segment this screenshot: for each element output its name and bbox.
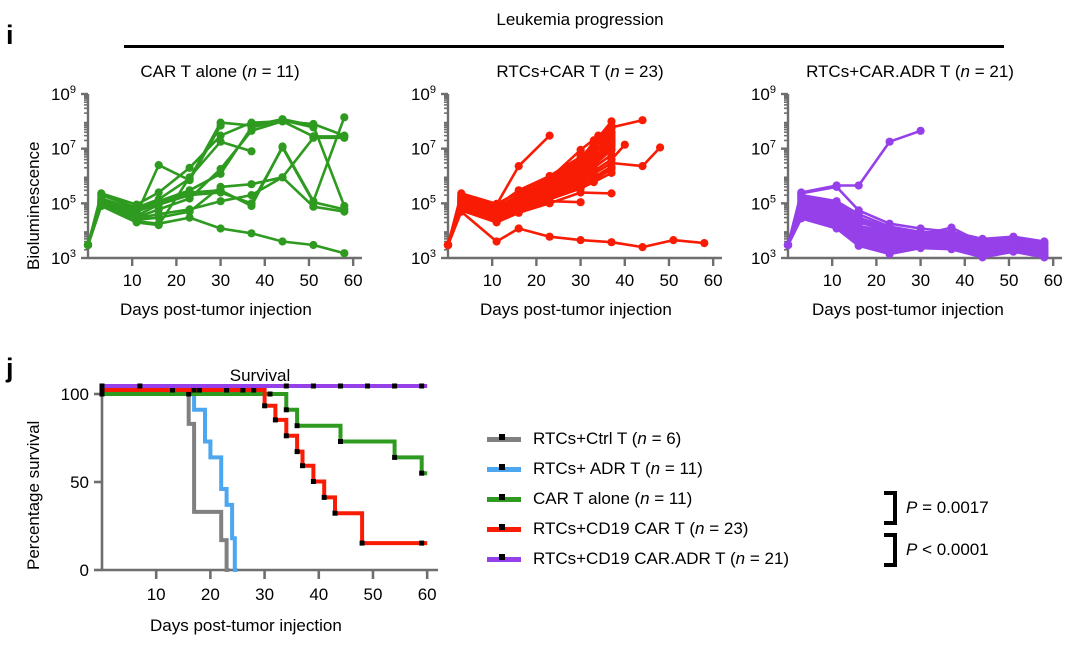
legend-item-label: RTCs+ ADR T (n = 11) — [533, 459, 703, 479]
svg-text:30: 30 — [255, 585, 274, 604]
svg-text:107: 107 — [751, 139, 776, 159]
svg-text:50: 50 — [1000, 271, 1019, 290]
svg-text:109: 109 — [411, 84, 436, 104]
legend-censor-mark-icon — [499, 464, 505, 470]
svg-text:40: 40 — [309, 585, 328, 604]
leukemia-plot-rtcs-car-t: 103105107109102030405060 — [400, 80, 730, 290]
svg-text:20: 20 — [201, 585, 220, 604]
svg-text:50: 50 — [660, 271, 679, 290]
svg-text:20: 20 — [527, 271, 546, 290]
svg-text:10: 10 — [123, 271, 142, 290]
legend-item-label: CAR T alone (n = 11) — [533, 489, 692, 509]
svg-text:50: 50 — [70, 473, 89, 492]
svg-text:60: 60 — [704, 271, 723, 290]
legend-censor-mark-icon — [499, 554, 505, 560]
comparison-bracket-icon — [884, 533, 897, 567]
legend-color-swatch — [487, 557, 521, 562]
svg-text:30: 30 — [571, 271, 590, 290]
subplot-title-rtcs-car-t: RTCs+CAR T (n = 23) — [420, 62, 740, 82]
legend-censor-mark-icon — [499, 494, 505, 500]
pvalue-text: P = 0.0017 — [906, 498, 989, 518]
legend-item-label: RTCs+CD19 CAR T (n = 23) — [533, 519, 748, 539]
panel-letter-i: i — [6, 22, 14, 49]
svg-text:103: 103 — [751, 248, 776, 268]
leukemia-plot-rtcs-car-adr-t: 103105107109102030405060 — [740, 80, 1070, 290]
svg-text:50: 50 — [300, 271, 319, 290]
pvalue-text: P < 0.0001 — [906, 540, 989, 560]
subplot-title-rtcs-car-adr-t: RTCs+CAR.ADR T (n = 21) — [760, 62, 1060, 82]
legend-color-swatch — [487, 467, 521, 472]
svg-text:103: 103 — [411, 248, 436, 268]
survival-legend: RTCs+Ctrl T (n = 6)RTCs+ ADR T (n = 11)C… — [487, 424, 867, 574]
pvalue-bracket-group: P = 0.0017P < 0.0001 — [884, 487, 989, 571]
svg-text:20: 20 — [167, 271, 186, 290]
subplot-title-text-3: RTCs+CAR.ADR T (n = 21) — [806, 62, 1014, 81]
svg-text:105: 105 — [411, 193, 436, 213]
svg-text:40: 40 — [955, 271, 974, 290]
legend-item[interactable]: RTCs+ ADR T (n = 11) — [487, 454, 867, 484]
svg-text:100: 100 — [61, 385, 89, 404]
pvalue-row: P < 0.0001 — [884, 529, 989, 571]
legend-color-swatch — [487, 437, 521, 442]
panel-i2-x-axis-label: Days post-tumor injection — [480, 300, 672, 320]
legend-item-label: RTCs+CD19 CAR.ADR T (n = 21) — [533, 549, 789, 569]
subplot-title-text-2: RTCs+CAR T (n = 23) — [496, 62, 663, 81]
svg-text:40: 40 — [255, 271, 274, 290]
leukemia-plot-car-t-alone: 103105107109102030405060 — [40, 80, 370, 290]
panel-i1-x-axis-label: Days post-tumor injection — [120, 300, 312, 320]
survival-plot: 050100102030405060 — [40, 380, 460, 605]
svg-text:60: 60 — [1044, 271, 1063, 290]
svg-text:10: 10 — [147, 585, 166, 604]
legend-censor-mark-icon — [499, 524, 505, 530]
legend-item[interactable]: RTCs+CD19 CAR T (n = 23) — [487, 514, 867, 544]
svg-text:60: 60 — [418, 585, 437, 604]
legend-item[interactable]: RTCs+Ctrl T (n = 6) — [487, 424, 867, 454]
legend-item[interactable]: CAR T alone (n = 11) — [487, 484, 867, 514]
pvalue-row: P = 0.0017 — [884, 487, 989, 529]
svg-text:40: 40 — [615, 271, 634, 290]
group-title-leukemia-progression: Leukemia progression — [380, 10, 780, 30]
svg-text:30: 30 — [211, 271, 230, 290]
subplot-title-car-t-alone: CAR T alone (n = 11) — [60, 62, 380, 82]
subplot-title-text-1: CAR T alone (n = 11) — [140, 62, 299, 81]
panel-i3-x-axis-label: Days post-tumor injection — [812, 300, 1004, 320]
svg-text:20: 20 — [867, 271, 886, 290]
legend-color-swatch — [487, 527, 521, 532]
svg-text:109: 109 — [751, 84, 776, 104]
svg-text:107: 107 — [51, 139, 76, 159]
svg-text:109: 109 — [51, 84, 76, 104]
legend-item[interactable]: RTCs+CD19 CAR.ADR T (n = 21) — [487, 544, 867, 574]
comparison-bracket-icon — [884, 491, 897, 525]
svg-text:105: 105 — [751, 193, 776, 213]
svg-text:10: 10 — [483, 271, 502, 290]
svg-text:50: 50 — [364, 585, 383, 604]
legend-censor-mark-icon — [499, 434, 505, 440]
svg-text:60: 60 — [344, 271, 363, 290]
legend-color-swatch — [487, 497, 521, 502]
svg-text:0: 0 — [80, 561, 89, 580]
svg-text:107: 107 — [411, 139, 436, 159]
panel-j-x-axis-label: Days post-tumor injection — [150, 616, 342, 636]
svg-text:105: 105 — [51, 193, 76, 213]
panel-letter-j: j — [6, 355, 14, 382]
svg-text:10: 10 — [823, 271, 842, 290]
group-title-rule — [124, 45, 1004, 48]
svg-text:30: 30 — [911, 271, 930, 290]
legend-item-label: RTCs+Ctrl T (n = 6) — [533, 429, 681, 449]
svg-text:103: 103 — [51, 248, 76, 268]
